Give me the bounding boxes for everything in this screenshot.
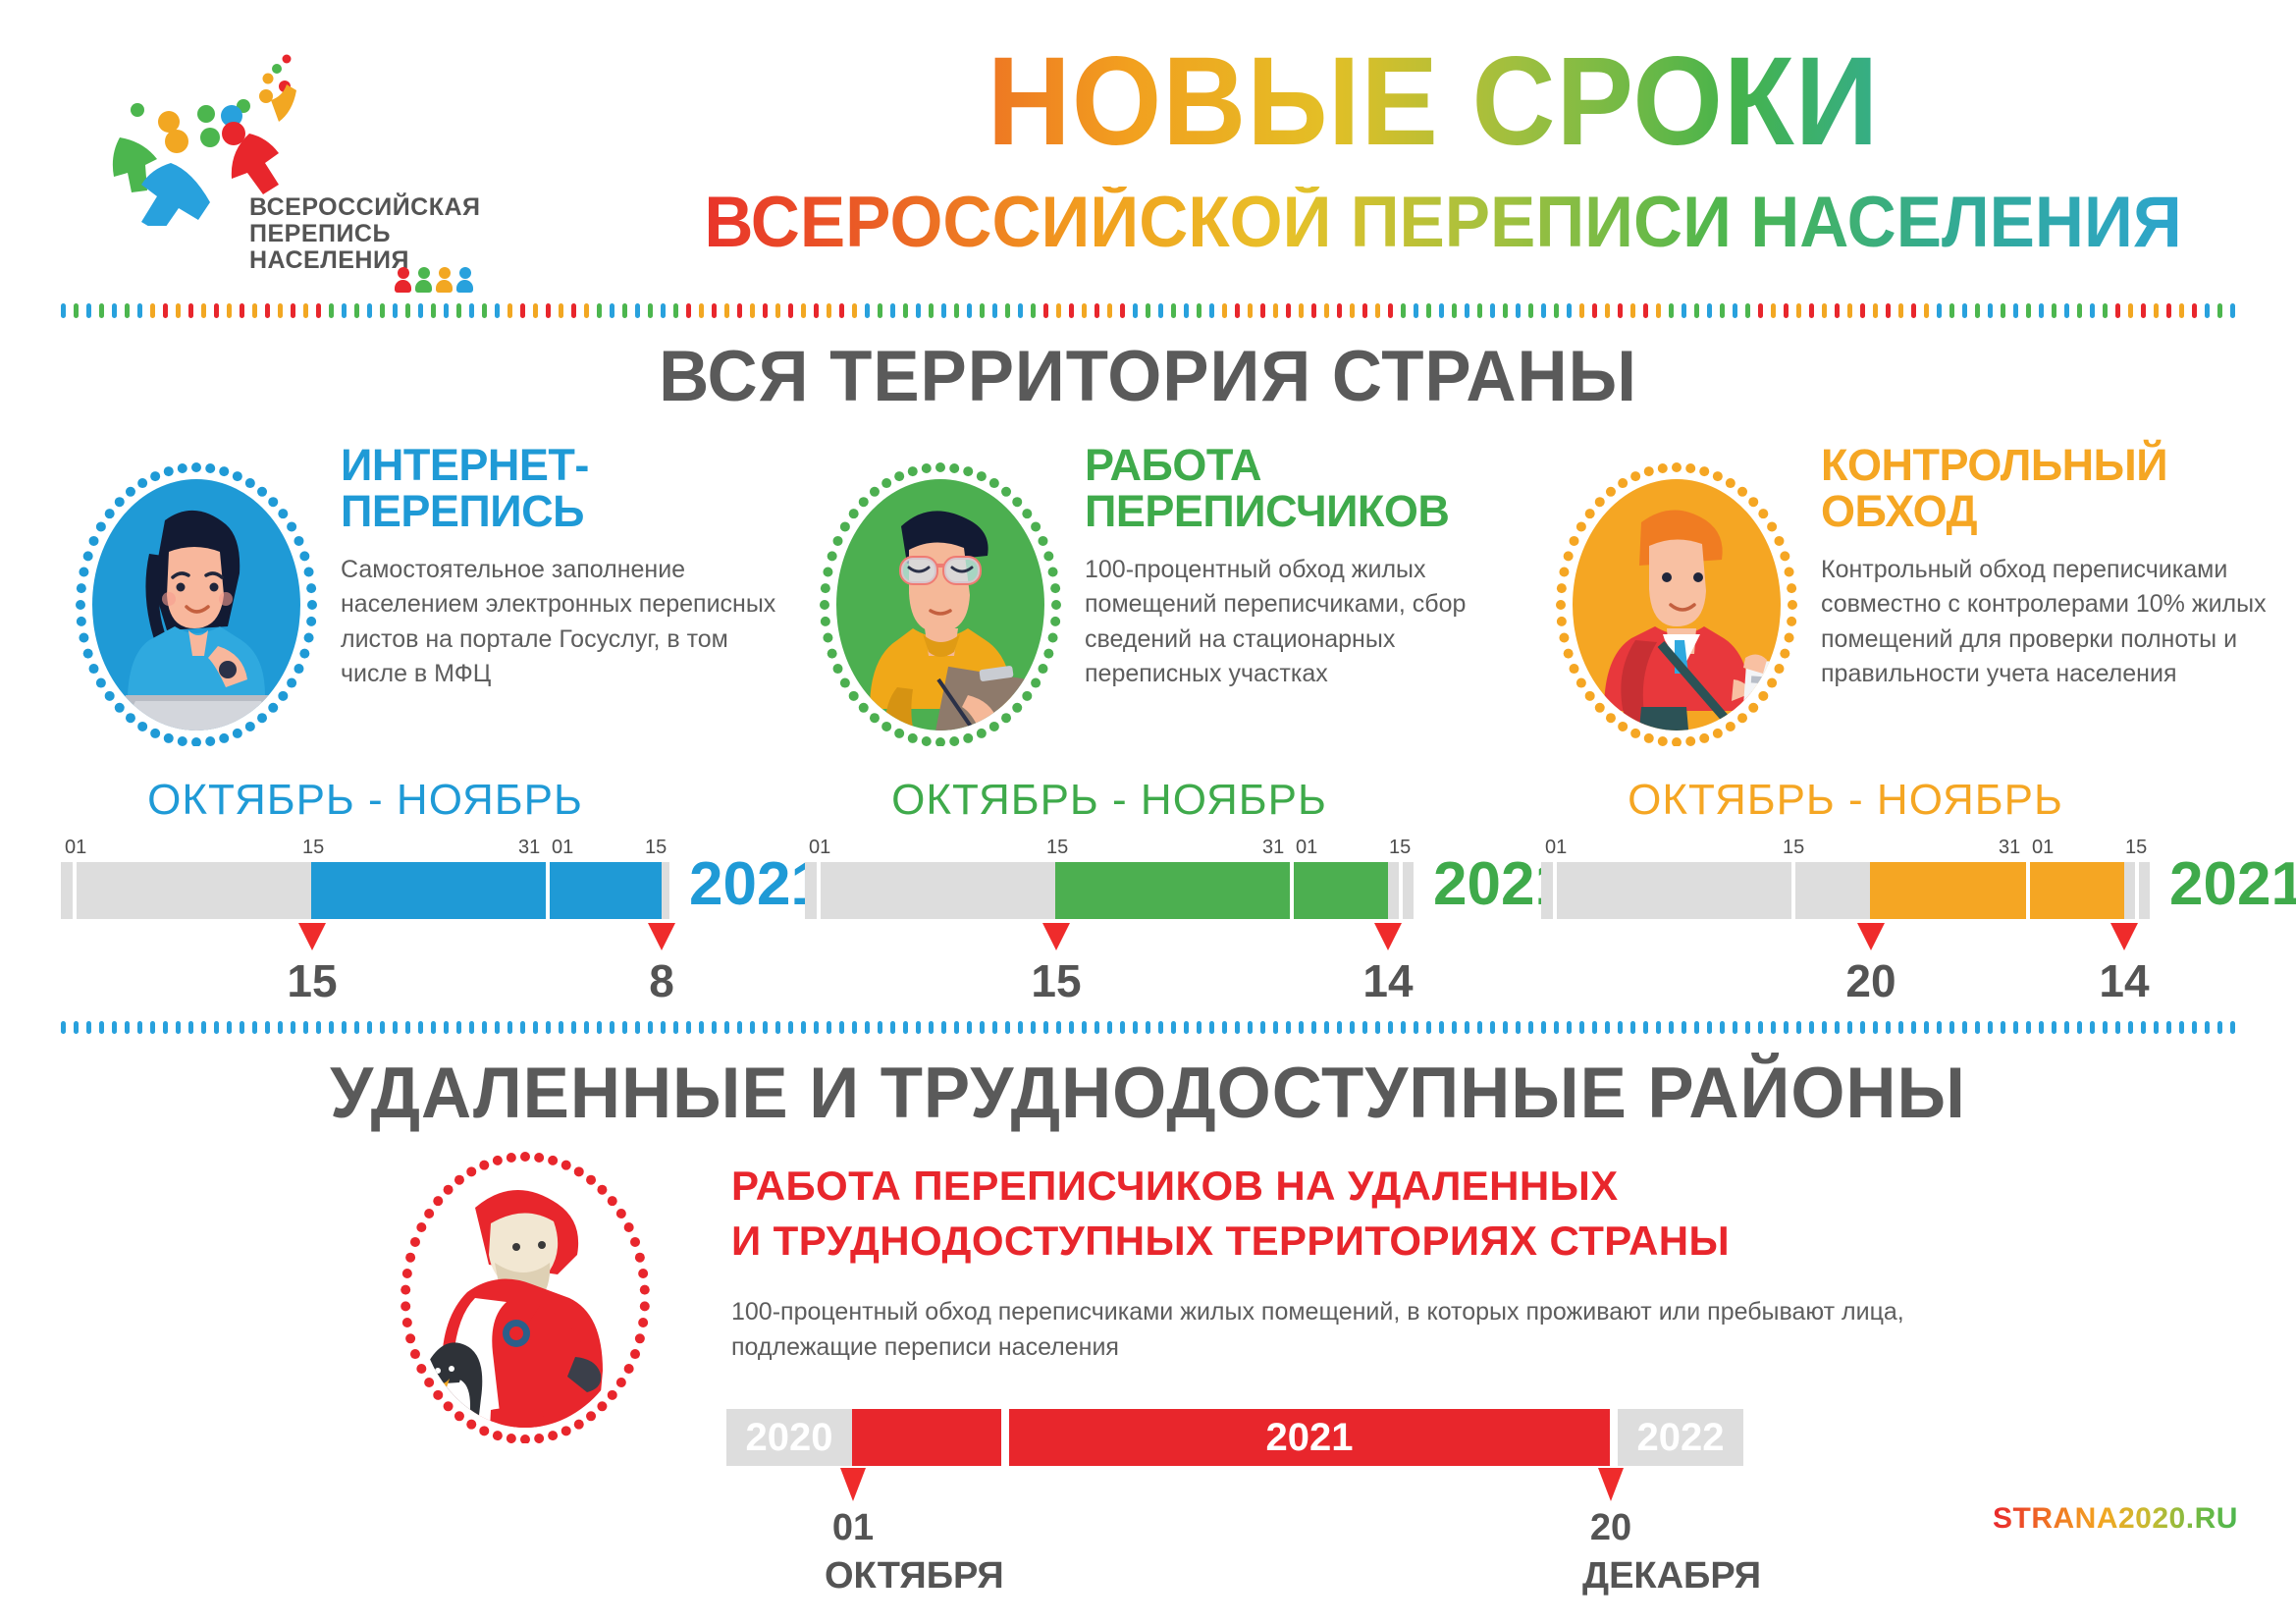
divider-blue-middle xyxy=(61,1019,2236,1035)
column-enumerator-work: РАБОТА ПЕРЕПИСЧИКОВ 100-процентный обход… xyxy=(805,442,1531,776)
timeline-1-bar xyxy=(61,862,669,919)
timeline-2-marker-start: 15 xyxy=(1029,923,1084,1007)
bottom-title-line-1: РАБОТА ПЕРЕПИСЧИКОВ НА УДАЛЕННЫХ xyxy=(731,1159,1968,1214)
marker-triangle-icon xyxy=(648,923,675,950)
marker-triangle-icon xyxy=(1857,923,1885,950)
column-3-title: КОНТРОЛЬНЫЙ ОБХОД xyxy=(1821,442,2268,535)
site-url[interactable]: STRANA2020.RU xyxy=(1993,1502,2238,1536)
timeline-3-ticks: 01 15 31 01 15 xyxy=(1541,837,2150,862)
logo-year-2020-figures xyxy=(395,267,473,293)
timeline-internet-census: ОКТЯБРЬ - НОЯБРЬ 01 15 31 01 15 2021 15 … xyxy=(61,776,777,992)
timeline-3-month-label: ОКТЯБРЬ - НОЯБРЬ xyxy=(1541,776,2150,825)
column-3-body: КОНТРОЛЬНЫЙ ОБХОД Контрольный обход пере… xyxy=(1821,442,2268,692)
tick-01-nov: 01 xyxy=(1296,837,1317,859)
marker-label: 15 xyxy=(1029,954,1084,1007)
marker-triangle-icon xyxy=(2110,923,2138,950)
column-2-title: РАБОТА ПЕРЕПИСЧИКОВ xyxy=(1085,442,1531,535)
column-control-round: КОНТРОЛЬНЫЙ ОБХОД Контрольный обход пере… xyxy=(1541,442,2268,776)
marker-label: 14 xyxy=(2097,954,2152,1007)
section-heading-all-country: ВСЯ ТЕРРИТОРИЯ СТРАНЫ xyxy=(34,336,2262,417)
column-1-description: Самостоятельное заполнение населением эл… xyxy=(341,553,787,692)
section-heading-remote-areas: УДАЛЕННЫЕ И ТРУДНОДОСТУПНЫЕ РАЙОНЫ xyxy=(34,1053,2262,1134)
tick-01-oct: 01 xyxy=(809,837,830,859)
man-with-document-illustration xyxy=(1551,461,1801,746)
bottom-section-body: РАБОТА ПЕРЕПИСЧИКОВ НА УДАЛЕННЫХ И ТРУДН… xyxy=(731,1159,1968,1365)
marker-triangle-icon xyxy=(1374,923,1402,950)
marker-label: 8 xyxy=(634,954,689,1007)
timeline-3-marker-end: 14 xyxy=(2097,923,2152,1007)
timeline-3-marker-start: 20 xyxy=(1843,923,1898,1007)
bar-block-2022: 2022 xyxy=(1618,1409,1743,1466)
marker-month: ДЕКАБРЯ xyxy=(1582,1555,1639,1597)
page-title: НОВЫЕ СРОКИ xyxy=(674,39,2192,165)
timeline-control-round: ОКТЯБРЬ - НОЯБРЬ 01 15 31 01 15 2021 20 … xyxy=(1541,776,2258,992)
marker-triangle-icon xyxy=(1042,923,1070,950)
tick-31-oct: 31 xyxy=(1999,837,2020,859)
timeline-3-bar xyxy=(1541,862,2150,919)
tick-15-oct: 15 xyxy=(1046,837,1068,859)
logo-line-1: ВСЕРОССИЙСКАЯ xyxy=(249,194,481,221)
timeline-2-month-label: ОКТЯБРЬ - НОЯБРЬ xyxy=(805,776,1414,825)
marker-day: 01 xyxy=(825,1507,881,1549)
infographic-page: ВСЕРОССИЙСКАЯ ПЕРЕПИСЬ НАСЕЛЕНИЯ НОВЫЕ С… xyxy=(0,0,2296,1624)
bottom-description: 100-процентный обход переписчиками жилых… xyxy=(731,1294,1968,1366)
tick-01-nov: 01 xyxy=(2032,837,2054,859)
marker-day: 20 xyxy=(1582,1507,1639,1549)
tick-01-oct: 01 xyxy=(65,837,86,859)
marker-label: 20 xyxy=(1843,954,1898,1007)
timeline-1-ticks: 01 15 31 01 15 xyxy=(61,837,669,862)
timeline-2-bar xyxy=(805,862,1414,919)
marker-month: ОКТЯБРЯ xyxy=(825,1555,881,1597)
tick-15-oct: 15 xyxy=(1783,837,1804,859)
timeline-2-marker-end: 14 xyxy=(1361,923,1415,1007)
census-logo-text: ВСЕРОССИЙСКАЯ ПЕРЕПИСЬ НАСЕЛЕНИЯ xyxy=(249,194,481,273)
marker-label: 14 xyxy=(1361,954,1415,1007)
census-logo: ВСЕРОССИЙСКАЯ ПЕРЕПИСЬ НАСЕЛЕНИЯ xyxy=(61,29,473,270)
bar-block-2020: 2020 xyxy=(726,1409,852,1466)
timeline-1-marker-start: 15 xyxy=(285,923,340,1007)
tick-15-oct: 15 xyxy=(302,837,324,859)
column-internet-census: ИНТЕРНЕТ-ПЕРЕПИСЬ Самостоятельное заполн… xyxy=(61,442,787,776)
tick-15-nov: 15 xyxy=(2125,837,2147,859)
tick-31-oct: 31 xyxy=(518,837,540,859)
column-3-description: Контрольный обход переписчиками совместн… xyxy=(1821,553,2268,692)
marker-triangle-icon xyxy=(840,1468,866,1501)
tick-31-oct: 31 xyxy=(1262,837,1284,859)
tick-15-nov: 15 xyxy=(1389,837,1411,859)
polar-explorer-with-penguin-illustration xyxy=(393,1149,658,1443)
logo-line-2: ПЕРЕПИСЬ xyxy=(249,221,481,247)
marker-triangle-icon xyxy=(298,923,326,950)
man-with-clipboard-illustration xyxy=(815,461,1065,746)
timeline-1-month-label: ОКТЯБРЬ - НОЯБРЬ xyxy=(61,776,669,825)
tick-01-nov: 01 xyxy=(552,837,573,859)
timeline-2-ticks: 01 15 31 01 15 xyxy=(805,837,1414,862)
column-1-body: ИНТЕРНЕТ-ПЕРЕПИСЬ Самостоятельное заполн… xyxy=(341,442,787,692)
page-subtitle: ВСЕРОССИЙСКОЙ ПЕРЕПИСИ НАСЕЛЕНИЯ xyxy=(651,187,2236,258)
column-2-body: РАБОТА ПЕРЕПИСЧИКОВ 100-процентный обход… xyxy=(1085,442,1531,692)
timeline-enumerator-work: ОКТЯБРЬ - НОЯБРЬ 01 15 31 01 15 2021 15 … xyxy=(805,776,1522,992)
tick-01-oct: 01 xyxy=(1545,837,1567,859)
divider-multicolor-top xyxy=(61,302,2236,318)
marker-triangle-icon xyxy=(1598,1468,1624,1501)
timeline-1-marker-end: 8 xyxy=(634,923,689,1007)
timeline-remote-areas: 2020 2021 2022 01 ОКТЯБРЯ 20 ДЕКАБРЯ xyxy=(726,1409,1924,1586)
timeline-3-year: 2021 xyxy=(2169,854,2296,915)
column-1-title: ИНТЕРНЕТ-ПЕРЕПИСЬ xyxy=(341,442,787,535)
bottom-marker-start: 01 ОКТЯБРЯ xyxy=(825,1468,881,1597)
bar-block-2021: 2021 xyxy=(1009,1409,1610,1466)
marker-label: 15 xyxy=(285,954,340,1007)
column-2-description: 100-процентный обход жилых помещений пер… xyxy=(1085,553,1531,692)
bottom-marker-end: 20 ДЕКАБРЯ xyxy=(1582,1468,1639,1597)
bottom-timeline-bar: 2020 2021 2022 xyxy=(726,1409,1757,1466)
tick-15-nov: 15 xyxy=(645,837,667,859)
bottom-title-line-2: И ТРУДНОДОСТУПНЫХ ТЕРРИТОРИЯХ СТРАНЫ xyxy=(731,1214,1968,1269)
bar-block-gap-a xyxy=(852,1409,1001,1466)
woman-with-laptop-illustration xyxy=(71,461,321,746)
